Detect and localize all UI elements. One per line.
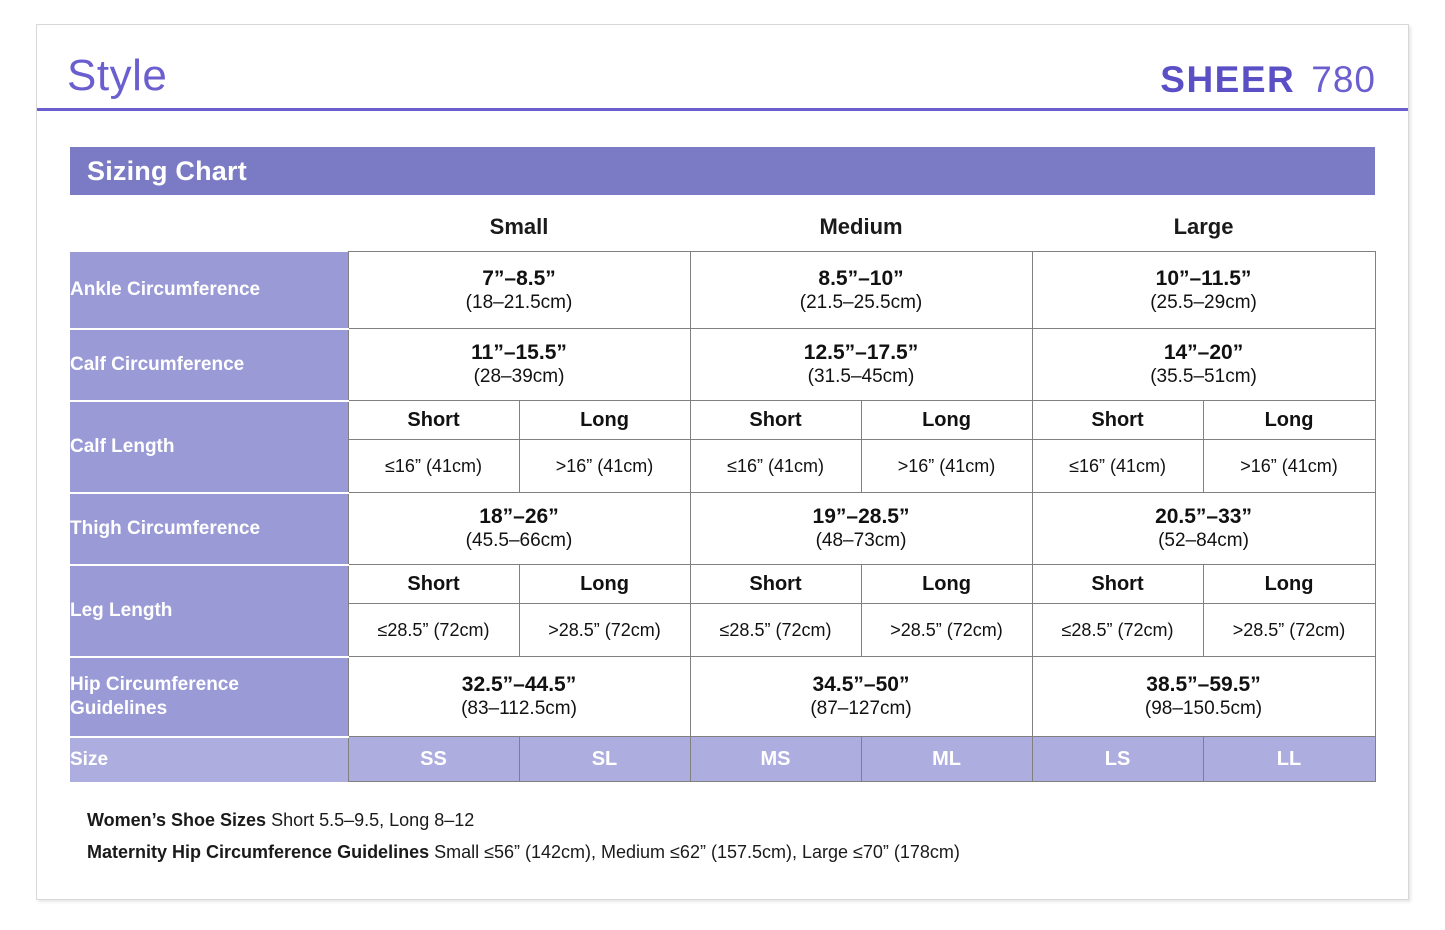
table-row-size: Size SS SL MS ML LS LL [70,737,1375,782]
cell-calf-length-medium-long: >16” (41cm) [861,440,1032,493]
sizing-chart-table: Small Medium Large Ankle Circumference 7… [70,203,1376,782]
column-group-medium: Medium [690,203,1032,252]
subheader-leg-length-large-short: Short [1032,565,1203,604]
value-inches: 38.5”–59.5” [1033,672,1375,697]
value-cm: (98–150.5cm) [1033,697,1375,721]
footnote-maternity-value: Small ≤56” (142cm), Medium ≤62” (157.5cm… [434,842,960,862]
value-cm: (52–84cm) [1033,529,1375,553]
value-cm: (21.5–25.5cm) [691,291,1032,315]
value-cm: (35.5–51cm) [1033,365,1375,389]
subheader-leg-length-medium-long: Long [861,565,1032,604]
value-inches: 19”–28.5” [691,504,1032,529]
table-row-calf-length-subheader: Calf Length Short Long Short Long Short … [70,401,1375,440]
cell-size-small-short: SS [348,737,519,782]
cell-calf-length-large-short: ≤16” (41cm) [1032,440,1203,493]
footnote-shoe-sizes-value: Short 5.5–9.5, Long 8–12 [271,810,474,830]
cell-thigh-medium: 19”–28.5” (48–73cm) [690,493,1032,565]
table-row-calf-circumference: Calf Circumference 11”–15.5” (28–39cm) 1… [70,329,1375,401]
subheader-calf-length-medium-short: Short [690,401,861,440]
value-cm: (83–112.5cm) [349,697,690,721]
cell-size-large-long: LL [1203,737,1375,782]
cell-calf-length-large-long: >16” (41cm) [1203,440,1375,493]
cell-size-medium-long: ML [861,737,1032,782]
cell-calf-circ-small: 11”–15.5” (28–39cm) [348,329,690,401]
value-inches: 18”–26” [349,504,690,529]
sizing-chart-title: Sizing Chart [87,156,247,187]
cell-leg-length-small-long: >28.5” (72cm) [519,604,690,657]
table-row-thigh-circumference: Thigh Circumference 18”–26” (45.5–66cm) … [70,493,1375,565]
cell-calf-length-small-short: ≤16” (41cm) [348,440,519,493]
row-label-hip-circumference: Hip Circumference Guidelines [70,657,348,737]
cell-hip-large: 38.5”–59.5” (98–150.5cm) [1032,657,1375,737]
sizing-chart-title-bar: Sizing Chart [70,147,1375,195]
value-cm: (31.5–45cm) [691,365,1032,389]
value-cm: (87–127cm) [691,697,1032,721]
page-root: Style SHEER 780 Sizing Chart Small [0,0,1445,930]
subheader-leg-length-medium-short: Short [690,565,861,604]
cell-size-large-short: LS [1032,737,1203,782]
brand-block: SHEER 780 [1160,61,1376,108]
cell-calf-circ-large: 14”–20” (35.5–51cm) [1032,329,1375,401]
cell-leg-length-medium-long: >28.5” (72cm) [861,604,1032,657]
value-inches: 34.5”–50” [691,672,1032,697]
brand-number: 780 [1311,61,1376,98]
row-label-leg-length: Leg Length [70,565,348,657]
cell-leg-length-large-long: >28.5” (72cm) [1203,604,1375,657]
footnote-shoe-sizes-label: Women’s Shoe Sizes [87,810,266,830]
row-label-calf-length: Calf Length [70,401,348,493]
value-cm: (18–21.5cm) [349,291,690,315]
cell-leg-length-large-short: ≤28.5” (72cm) [1032,604,1203,657]
value-inches: 12.5”–17.5” [691,340,1032,365]
footnote-shoe-sizes: Women’s Shoe Sizes Short 5.5–9.5, Long 8… [87,805,1377,837]
value-inches: 7”–8.5” [349,266,690,291]
brand-name: SHEER [1160,61,1295,98]
document-header: Style SHEER 780 [37,25,1408,111]
subheader-calf-length-large-long: Long [1203,401,1375,440]
row-label-hip-line2: Guidelines [70,697,348,721]
table-row-ankle-circumference: Ankle Circumference 7”–8.5” (18–21.5cm) … [70,252,1375,329]
value-inches: 11”–15.5” [349,340,690,365]
table-group-header-row: Small Medium Large [70,203,1375,252]
row-label-thigh-circumference: Thigh Circumference [70,493,348,565]
cell-leg-length-medium-short: ≤28.5” (72cm) [690,604,861,657]
value-inches: 14”–20” [1033,340,1375,365]
value-inches: 32.5”–44.5” [349,672,690,697]
table-row-leg-length-subheader: Leg Length Short Long Short Long Short L… [70,565,1375,604]
cell-calf-circ-medium: 12.5”–17.5” (31.5–45cm) [690,329,1032,401]
row-label-size: Size [70,737,348,782]
row-label-hip-line1: Hip Circumference [70,673,348,697]
value-cm: (48–73cm) [691,529,1032,553]
subheader-calf-length-medium-long: Long [861,401,1032,440]
value-inches: 10”–11.5” [1033,266,1375,291]
cell-leg-length-small-short: ≤28.5” (72cm) [348,604,519,657]
cell-calf-length-medium-short: ≤16” (41cm) [690,440,861,493]
subheader-leg-length-large-long: Long [1203,565,1375,604]
cell-hip-small: 32.5”–44.5” (83–112.5cm) [348,657,690,737]
value-cm: (25.5–29cm) [1033,291,1375,315]
cell-calf-length-small-long: >16” (41cm) [519,440,690,493]
page-title: Style [67,54,167,108]
row-label-ankle-circumference: Ankle Circumference [70,252,348,329]
value-cm: (45.5–66cm) [349,529,690,553]
column-group-large: Large [1032,203,1375,252]
value-inches: 8.5”–10” [691,266,1032,291]
column-group-small: Small [348,203,690,252]
row-label-calf-circumference: Calf Circumference [70,329,348,401]
cell-size-medium-short: MS [690,737,861,782]
subheader-calf-length-large-short: Short [1032,401,1203,440]
cell-ankle-small: 7”–8.5” (18–21.5cm) [348,252,690,329]
footnote-maternity-label: Maternity Hip Circumference Guidelines [87,842,429,862]
cell-thigh-large: 20.5”–33” (52–84cm) [1032,493,1375,565]
cell-thigh-small: 18”–26” (45.5–66cm) [348,493,690,565]
subheader-leg-length-small-short: Short [348,565,519,604]
value-inches: 20.5”–33” [1033,504,1375,529]
cell-size-small-long: SL [519,737,690,782]
value-cm: (28–39cm) [349,365,690,389]
corner-cell [70,203,348,252]
cell-ankle-medium: 8.5”–10” (21.5–25.5cm) [690,252,1032,329]
table-row-hip-circumference: Hip Circumference Guidelines 32.5”–44.5”… [70,657,1375,737]
cell-ankle-large: 10”–11.5” (25.5–29cm) [1032,252,1375,329]
footnotes: Women’s Shoe Sizes Short 5.5–9.5, Long 8… [87,805,1377,868]
subheader-leg-length-small-long: Long [519,565,690,604]
cell-hip-medium: 34.5”–50” (87–127cm) [690,657,1032,737]
document-card: Style SHEER 780 Sizing Chart Small [36,24,1409,900]
footnote-maternity: Maternity Hip Circumference Guidelines S… [87,837,1377,869]
subheader-calf-length-small-long: Long [519,401,690,440]
subheader-calf-length-small-short: Short [348,401,519,440]
